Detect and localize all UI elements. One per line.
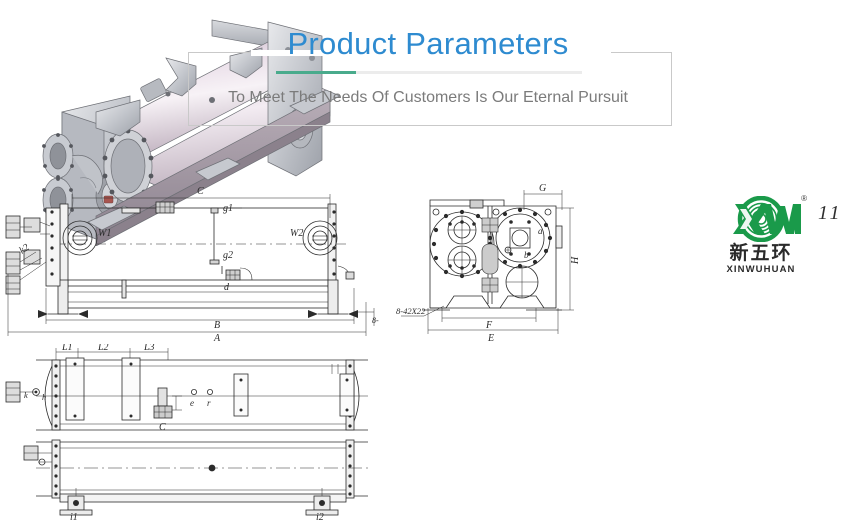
label-base-e: E [487, 333, 494, 344]
label-foot-i2: i2 [316, 512, 324, 520]
brand-name-cn: 新五环 [713, 244, 809, 264]
label-drain-d: d [224, 282, 230, 293]
page-subtitle: To Meet The Needs Of Customers Is Our Et… [0, 90, 856, 106]
label-width-g: G [539, 183, 546, 194]
label-pitch-l3: L3 [143, 344, 155, 353]
plan-section-drawing: L1 L2 L3 e r C k h i1 i2 [2, 344, 402, 520]
label-pitch-l1: L1 [61, 344, 73, 353]
label-conn-k: k [24, 390, 28, 400]
label-port-r: r [207, 398, 211, 408]
title-underline-accent [276, 71, 356, 74]
label-nozzle-w2: W2 [290, 228, 303, 239]
label-bolt-count: 8- [372, 316, 379, 325]
label-gauge-g2: g2 [223, 250, 233, 261]
label-pitch-l2: L2 [97, 344, 109, 353]
label-height-h: H [570, 256, 581, 265]
page-title: Product Parameters [0, 28, 856, 59]
label-center-c: C [159, 422, 166, 433]
label-bolt-b: b [524, 250, 529, 260]
label-conn-h: h [42, 392, 46, 402]
label-gauge-g1: g1 [223, 203, 233, 214]
label-overall-b: B [214, 320, 220, 331]
brand-logo: ® 新五环 XINWUHUAN [713, 196, 809, 288]
label-span-c: C [197, 186, 204, 197]
label-port-e: e [190, 398, 194, 408]
label-bolt-a: a [538, 226, 543, 236]
label-bolt-note: 8-42X22 [396, 306, 426, 316]
label-foot-i1: i1 [70, 512, 78, 520]
end-elevation-drawing: G a b H F E 8-42X22 [396, 178, 596, 346]
label-base-f: F [485, 320, 493, 331]
label-overall-a: A [213, 333, 221, 344]
page-number-mark: 11 [818, 203, 843, 223]
registered-trademark-icon: ® [801, 195, 807, 203]
brand-name-en: XINWUHUAN [713, 265, 809, 275]
brand-mark-icon: ® [713, 196, 809, 242]
label-nozzle-w1: W1 [98, 228, 111, 239]
front-elevation-drawing: C g1 g2 W1 W2 k2 d B A 8- [2, 182, 394, 344]
